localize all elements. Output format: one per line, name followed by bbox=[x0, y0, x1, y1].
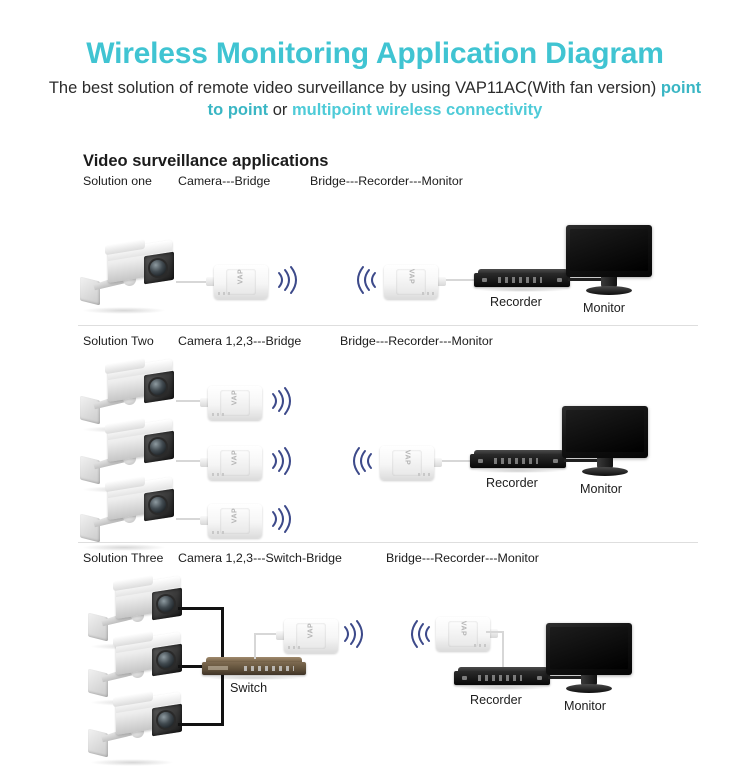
camera-wall-mount bbox=[80, 277, 100, 306]
wifi-signal-arcs-icon bbox=[268, 446, 294, 476]
camera-wall-mount bbox=[88, 669, 108, 698]
monitor-base bbox=[566, 684, 612, 693]
recorder-shadow bbox=[476, 288, 568, 292]
page-header: Wireless Monitoring Application Diagram … bbox=[0, 0, 750, 121]
camera-lens bbox=[158, 596, 174, 612]
lcd-monitor-icon bbox=[546, 623, 632, 693]
camera-lens bbox=[158, 652, 174, 668]
camera1-bus-stub bbox=[178, 607, 224, 610]
monitor-label: Monitor bbox=[583, 301, 625, 315]
recorder-led-2 bbox=[557, 278, 562, 282]
bridge-brand-label: VAP bbox=[232, 384, 239, 412]
camera-lens bbox=[150, 260, 166, 276]
recorder-label: Recorder bbox=[486, 476, 538, 490]
bridge-brand-label: VAP bbox=[232, 502, 239, 530]
bridge-status-leds bbox=[288, 646, 302, 649]
switch-ports bbox=[244, 666, 294, 671]
camera-lens bbox=[158, 712, 174, 728]
recorder-led bbox=[478, 459, 483, 463]
page-title: Wireless Monitoring Application Diagram bbox=[0, 38, 750, 70]
recorder-shadow bbox=[456, 686, 548, 690]
bridge-brand-label: VAP bbox=[308, 617, 315, 645]
bridge-status-leds bbox=[416, 473, 430, 476]
recorder-led-2 bbox=[553, 459, 558, 463]
recorder-buttons bbox=[498, 277, 542, 283]
vap-bridge-receiver: VAP bbox=[380, 446, 442, 480]
solution-three-name: Solution Three bbox=[83, 551, 163, 565]
camera3-bus-stub bbox=[178, 723, 224, 726]
solution-one-stage: VAP bbox=[78, 193, 698, 325]
lcd-monitor-icon bbox=[562, 406, 648, 476]
monitor-screen bbox=[570, 229, 648, 271]
vap-bridge-transmitter: VAP bbox=[200, 446, 262, 480]
bridge-brand-label: VAP bbox=[460, 615, 467, 643]
vap-bridge-transmitter: VAP bbox=[200, 504, 262, 538]
recorder-buttons bbox=[494, 458, 538, 464]
page-subtitle: The best solution of remote video survei… bbox=[45, 78, 705, 122]
bridge-status-leds bbox=[420, 292, 434, 295]
monitor-label: Monitor bbox=[564, 699, 606, 713]
dvr-recorder-icon bbox=[474, 269, 570, 291]
monitor-screen bbox=[550, 627, 628, 669]
camera-lens bbox=[150, 497, 166, 513]
recorder-label: Recorder bbox=[470, 693, 522, 707]
subtitle-text-or: or bbox=[268, 101, 292, 119]
solution-two-labels: Solution Two Camera 1,2,3---Bridge Bridg… bbox=[78, 326, 698, 360]
solution-one-labels: Solution one Camera---Bridge Bridge---Re… bbox=[78, 174, 698, 193]
dvr-recorder-icon bbox=[470, 450, 566, 472]
bridge-brand-label: VAP bbox=[232, 444, 239, 472]
camera-shadow bbox=[82, 307, 166, 314]
monitor-label: Monitor bbox=[580, 482, 622, 496]
recorder-led bbox=[462, 676, 467, 680]
wifi-signal-arcs-icon-receiver bbox=[350, 446, 376, 476]
application-diagram-page: Wireless Monitoring Application Diagram … bbox=[0, 0, 750, 750]
recorder-led-2 bbox=[537, 676, 542, 680]
monitor-base bbox=[586, 286, 632, 295]
bridge-status-leds bbox=[472, 644, 486, 647]
bridge-status-leds bbox=[218, 292, 232, 295]
monitor-base bbox=[582, 467, 628, 476]
vap-bridge-transmitter: VAP bbox=[206, 265, 268, 299]
cctv-camera-icon bbox=[78, 243, 186, 317]
recorder-shadow bbox=[472, 469, 564, 473]
solution-one-left-flow: Camera---Bridge bbox=[178, 174, 270, 188]
bridge-brand-label: VAP bbox=[238, 263, 245, 291]
camera-lens bbox=[150, 439, 166, 455]
wifi-signal-arcs-icon bbox=[340, 619, 366, 649]
dvr-recorder-icon bbox=[454, 667, 550, 689]
solution-two-right-flow: Bridge---Recorder---Monitor bbox=[340, 334, 493, 348]
switch-brand bbox=[208, 666, 228, 670]
network-switch-icon bbox=[202, 657, 306, 679]
vap-bridge-transmitter: VAP bbox=[200, 386, 262, 420]
wifi-signal-arcs-icon bbox=[268, 504, 294, 534]
subtitle-text-lead: The best solution of remote video survei… bbox=[49, 79, 661, 97]
camera-lens bbox=[150, 379, 166, 395]
section-heading: Video surveillance applications bbox=[83, 152, 698, 171]
bridge-to-recorder-cable-vertical bbox=[502, 631, 504, 671]
solution-three-right-flow: Bridge---Recorder---Monitor bbox=[386, 551, 539, 565]
camera-wall-mount bbox=[80, 514, 100, 543]
bridge-status-leds bbox=[212, 531, 226, 534]
wifi-signal-arcs-icon bbox=[268, 386, 294, 416]
vap-bridge-receiver: VAP bbox=[436, 617, 498, 651]
lcd-monitor-icon bbox=[566, 225, 652, 295]
wifi-signal-arcs-icon bbox=[274, 265, 300, 295]
diagram-panel: Video surveillance applications Solution… bbox=[78, 152, 698, 757]
recorder-label: Recorder bbox=[490, 295, 542, 309]
solution-three-left-flow: Camera 1,2,3---Switch-Bridge bbox=[178, 551, 342, 565]
subtitle-highlight-multipoint: multipoint wireless connectivity bbox=[292, 101, 542, 119]
solution-three-labels: Solution Three Camera 1,2,3---Switch-Bri… bbox=[78, 543, 698, 577]
cctv-camera-icon bbox=[86, 695, 194, 769]
switch-to-bridge-cable-vertical bbox=[254, 633, 256, 659]
solution-two-name: Solution Two bbox=[83, 334, 154, 348]
solution-two-left-flow: Camera 1,2,3---Bridge bbox=[178, 334, 301, 348]
switch-label: Switch bbox=[230, 681, 267, 695]
wifi-signal-arcs-icon-receiver bbox=[354, 265, 380, 295]
camera-shadow bbox=[90, 759, 174, 766]
bridge-status-leds bbox=[212, 413, 226, 416]
solution-two-stage: VAP bbox=[78, 360, 698, 542]
camera-wall-mount bbox=[88, 729, 108, 758]
recorder-led bbox=[482, 278, 487, 282]
solution-three-stage: Switch VAP bbox=[78, 577, 698, 757]
vap-bridge-receiver: VAP bbox=[384, 265, 446, 299]
solution-one-right-flow: Bridge---Recorder---Monitor bbox=[310, 174, 463, 188]
switch-shadow bbox=[205, 676, 303, 680]
bridge-status-leds bbox=[212, 473, 226, 476]
monitor-screen bbox=[566, 410, 644, 452]
vap-bridge-transmitter: VAP bbox=[276, 619, 338, 653]
camera-wall-mount bbox=[80, 396, 100, 425]
wifi-signal-arcs-icon-receiver bbox=[408, 619, 434, 649]
bridge-brand-label: VAP bbox=[408, 263, 415, 291]
recorder-buttons bbox=[478, 675, 522, 681]
solution-one-name: Solution one bbox=[83, 174, 152, 188]
bridge-brand-label: VAP bbox=[404, 444, 411, 472]
